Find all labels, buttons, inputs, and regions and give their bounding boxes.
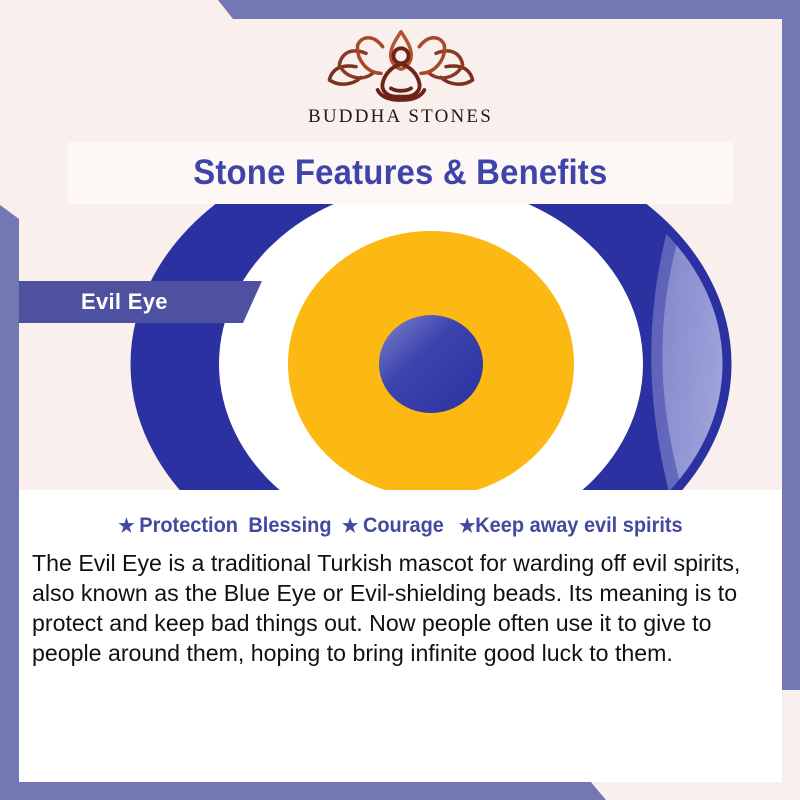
stone-description: The Evil Eye is a traditional Turkish ma… bbox=[32, 548, 763, 668]
star-icon: ★ bbox=[342, 516, 358, 537]
feature-keep-away-evil-spirits: Keep away evil spirits bbox=[475, 514, 682, 537]
brand-name: BUDDHA STONES bbox=[308, 106, 493, 128]
stone-name-label: Evil Eye bbox=[81, 289, 168, 315]
feature-blessing: Blessing bbox=[248, 514, 331, 537]
frame-left-accent bbox=[0, 195, 19, 800]
brand-header: BUDDHA STONES bbox=[19, 19, 782, 141]
evil-eye-illustration bbox=[100, 204, 763, 509]
page-title: Stone Features & Benefits bbox=[193, 153, 607, 193]
feature-protection: Protection bbox=[139, 514, 238, 537]
title-banner: Stone Features & Benefits bbox=[68, 142, 733, 204]
star-icon: ★ bbox=[118, 516, 134, 537]
frame-right-accent bbox=[781, 0, 800, 690]
infographic-page: BUDDHA STONES Stone Features & Benefits bbox=[0, 0, 800, 800]
lotus-meditation-icon bbox=[316, 25, 486, 105]
description-panel: ★ProtectionBlessing★Courage★Keep away ev… bbox=[19, 490, 782, 782]
feature-list: ★ProtectionBlessing★Courage★Keep away ev… bbox=[38, 514, 763, 538]
star-icon: ★ bbox=[459, 516, 475, 537]
frame-top-accent bbox=[0, 0, 800, 19]
feature-courage: Courage bbox=[363, 514, 444, 537]
evil-eye-graphic bbox=[100, 204, 763, 509]
frame-bottom-accent bbox=[0, 781, 800, 800]
stone-name-ribbon: Evil Eye bbox=[19, 281, 262, 323]
